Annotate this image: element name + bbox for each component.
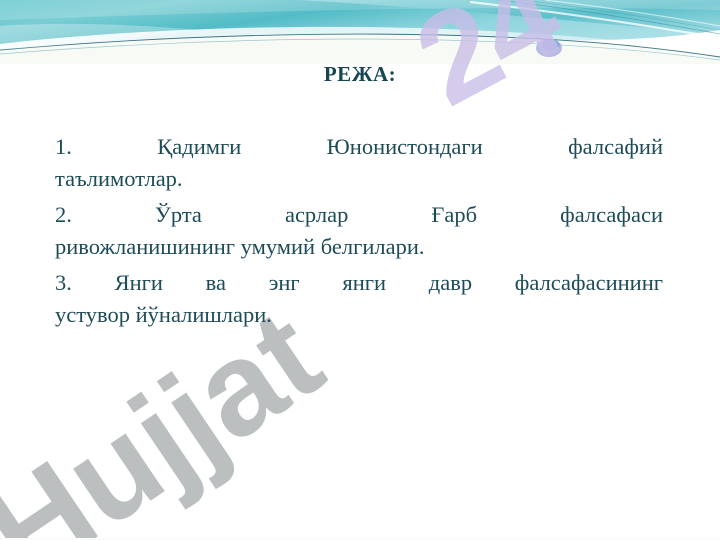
page-title: РЕЖА:: [0, 62, 720, 87]
list-item-line: 2. Ўрта асрлар Ғарб фалсафаси: [55, 199, 663, 231]
list-item-line: ривожланишининг умумий белгилари.: [55, 231, 663, 263]
slide-content: РЕЖА: 1. Қадимги Юнонистондаги фалсафий …: [0, 0, 720, 540]
list-item-line: таълимотлар.: [55, 163, 663, 195]
slide-canvas: 24 Hujjat РЕЖА: 1. Қадимги Юнонистондаги…: [0, 0, 720, 540]
list-item-line: 3. Янги ва энг янги давр фалсафасининг: [55, 267, 663, 299]
list-item: 3. Янги ва энг янги давр фалсафасининг у…: [55, 267, 663, 330]
list-item-line: 1. Қадимги Юнонистондаги фалсафий: [55, 131, 663, 163]
list-item: 1. Қадимги Юнонистондаги фалсафий таълим…: [55, 131, 663, 194]
plan-list: 1. Қадимги Юнонистондаги фалсафий таълим…: [55, 131, 663, 330]
list-item-line: устувор йўналишлари.: [55, 299, 663, 331]
list-item: 2. Ўрта асрлар Ғарб фалсафаси ривожланиш…: [55, 199, 663, 262]
